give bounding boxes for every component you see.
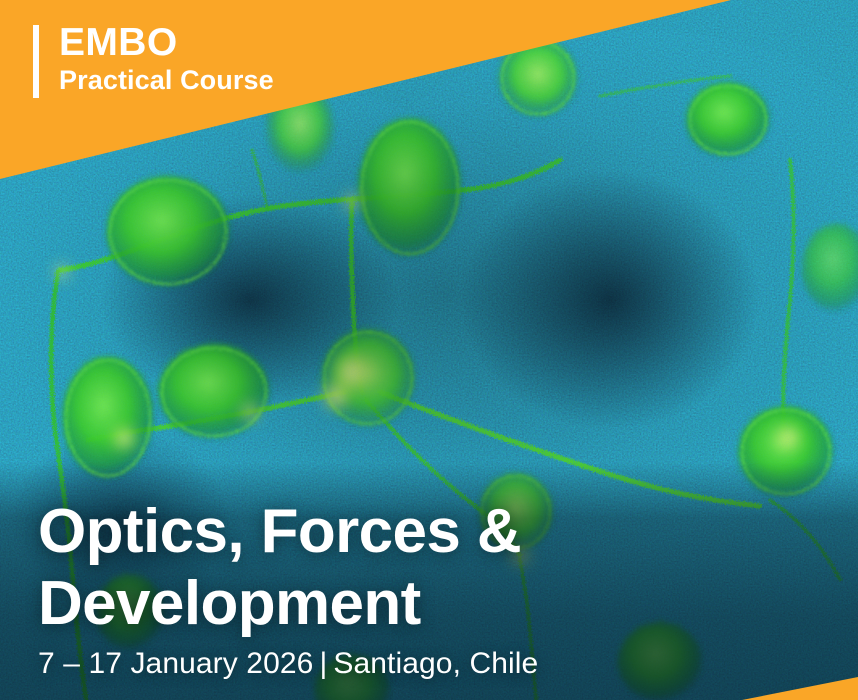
- course-location: Santiago, Chile: [333, 647, 538, 680]
- course-meta: 7 – 17 January 2026|Santiago, Chile: [38, 646, 818, 682]
- course-title-line-2: Development: [38, 568, 818, 640]
- course-title-line-1: Optics, Forces &: [38, 496, 818, 568]
- vertical-rule-icon: [33, 25, 39, 98]
- title-block: Optics, Forces & Development 7 – 17 Janu…: [38, 496, 818, 682]
- meta-separator: |: [313, 647, 333, 680]
- embo-course-poster: EMBO Practical Course Optics, Forces & D…: [0, 0, 858, 700]
- course-dates: 7 – 17 January 2026: [38, 647, 313, 680]
- embo-logo: EMBO Practical Course: [33, 22, 274, 98]
- embo-logo-subtitle: Practical Course: [59, 64, 274, 96]
- course-title: Optics, Forces & Development: [38, 496, 818, 640]
- embo-wordmark: EMBO: [59, 22, 274, 64]
- embo-logo-text: EMBO Practical Course: [59, 22, 274, 96]
